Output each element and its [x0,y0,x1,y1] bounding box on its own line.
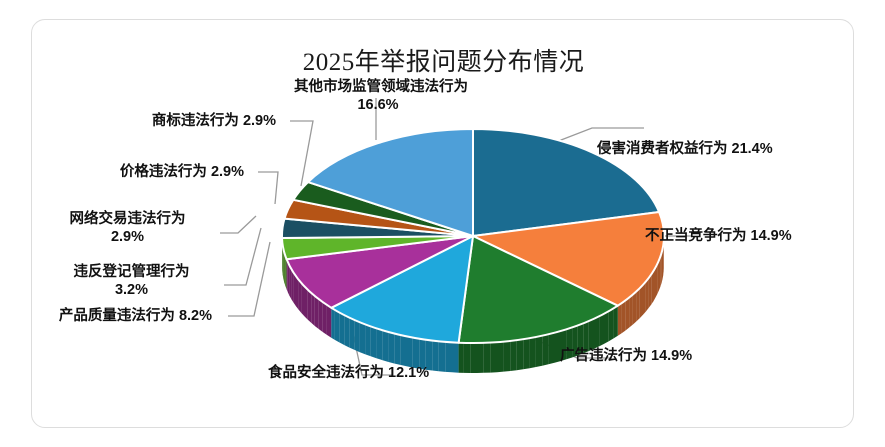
side-unfair-competition [643,282,646,315]
side-advertising [484,343,491,373]
label-online-trading: 网络交易违法行为 2.9% [50,210,205,246]
side-unfair-competition [651,271,653,305]
label-unfair-competition: 不正当竞争行为 14.9% [645,227,792,245]
side-advertising [459,343,464,373]
pie-body: 侵害消费者权益行为 21.4%不正当竞争行为 14.9%广告违法行为 14.9%… [282,129,664,373]
label-price-violation: 价格违法行为 2.9% [32,163,244,181]
chart-card: 2025年举报问题分布情况 侵害消费者权益行为 21. [31,19,854,428]
side-food-safety [376,328,382,360]
side-food-safety [439,341,446,372]
side-advertising [510,340,517,371]
side-advertising [464,343,471,373]
side-advertising [604,311,609,344]
side-food-safety [360,322,366,354]
side-unfair-competition [618,304,621,336]
label-consumer-rights: 侵害消费者权益行为 21.4% [597,140,773,158]
side-product-quality [301,283,304,316]
side-advertising [530,337,536,368]
side-unfair-competition [636,288,639,321]
side-unfair-competition [629,295,633,328]
side-food-safety [400,335,406,366]
side-advertising [599,314,604,347]
label-registration-line2: 3.2% [54,281,209,299]
label-registration-violation: 违反登记管理行为 3.2% [54,263,209,299]
label-other-line1: 其他市场监管领域违法行为 [294,78,462,96]
side-food-safety [339,312,344,345]
side-product-quality [323,302,327,335]
side-food-safety [349,318,354,350]
side-product-quality [287,259,288,292]
label-product-quality: 产品质量违法行为 8.2% [32,307,212,325]
side-food-safety [344,315,349,348]
side-advertising [517,339,524,370]
side-unfair-competition [646,278,649,312]
side-unfair-competition [654,268,656,302]
side-food-safety [371,326,377,358]
leader-online [220,216,256,233]
side-unfair-competition [633,291,637,324]
side-food-safety [432,341,439,372]
side-unfair-competition [640,285,643,318]
leader-registration [224,228,261,285]
side-advertising [548,333,554,365]
side-food-safety [394,334,400,365]
side-product-quality [315,296,319,329]
side-advertising [536,336,542,367]
side-advertising [594,316,599,348]
label-food-safety: 食品安全违法行为 12.1% [268,364,429,382]
pie-chart: 侵害消费者权益行为 21.4%不正当竞争行为 14.9%广告违法行为 14.9%… [32,20,855,429]
side-advertising [523,338,529,369]
side-food-safety [407,336,413,367]
side-advertising [490,342,497,372]
side-food-safety [331,308,334,340]
side-food-safety [388,332,394,364]
leader-price [258,172,278,204]
label-online-line1: 网络交易违法行为 [50,210,205,228]
label-online-line2: 2.9% [50,228,205,246]
label-other-market-supervision: 其他市场监管领域违法行为 16.6% [294,78,462,114]
side-product-quality [305,286,308,319]
side-food-safety [354,320,359,352]
side-advertising [613,306,617,339]
side-advertising [497,342,504,373]
side-product-quality [308,290,312,323]
label-advertising: 广告违法行为 14.9% [560,347,692,365]
side-product-quality [319,299,323,332]
side-food-safety [382,330,388,362]
side-product-quality [294,273,296,307]
side-advertising [477,343,484,373]
label-registration-line1: 违反登记管理行为 [54,263,209,281]
side-product-quality [299,280,302,313]
side-food-safety [445,342,452,372]
side-advertising [542,334,548,365]
side-food-safety [452,342,459,372]
side-product-quality [291,269,293,303]
side-unfair-competition [649,275,652,308]
label-other-line2: 16.6% [294,96,462,114]
side-product-quality [296,276,299,309]
side-product-quality [311,293,315,326]
side-unfair-competition [625,298,629,331]
side-unfair-competition [621,301,625,334]
side-advertising [609,309,614,342]
side-advertising [470,343,477,373]
side-product-quality [327,305,331,338]
pie-top-faces: 侵害消费者权益行为 21.4%不正当竞争行为 14.9%广告违法行为 14.9%… [282,129,664,343]
label-trademark-violation: 商标违法行为 2.9% [32,112,276,130]
side-food-safety [335,310,340,343]
leader-quality [228,242,270,316]
side-food-safety [365,324,371,356]
side-advertising [504,341,511,372]
leader-trademark [290,121,313,186]
